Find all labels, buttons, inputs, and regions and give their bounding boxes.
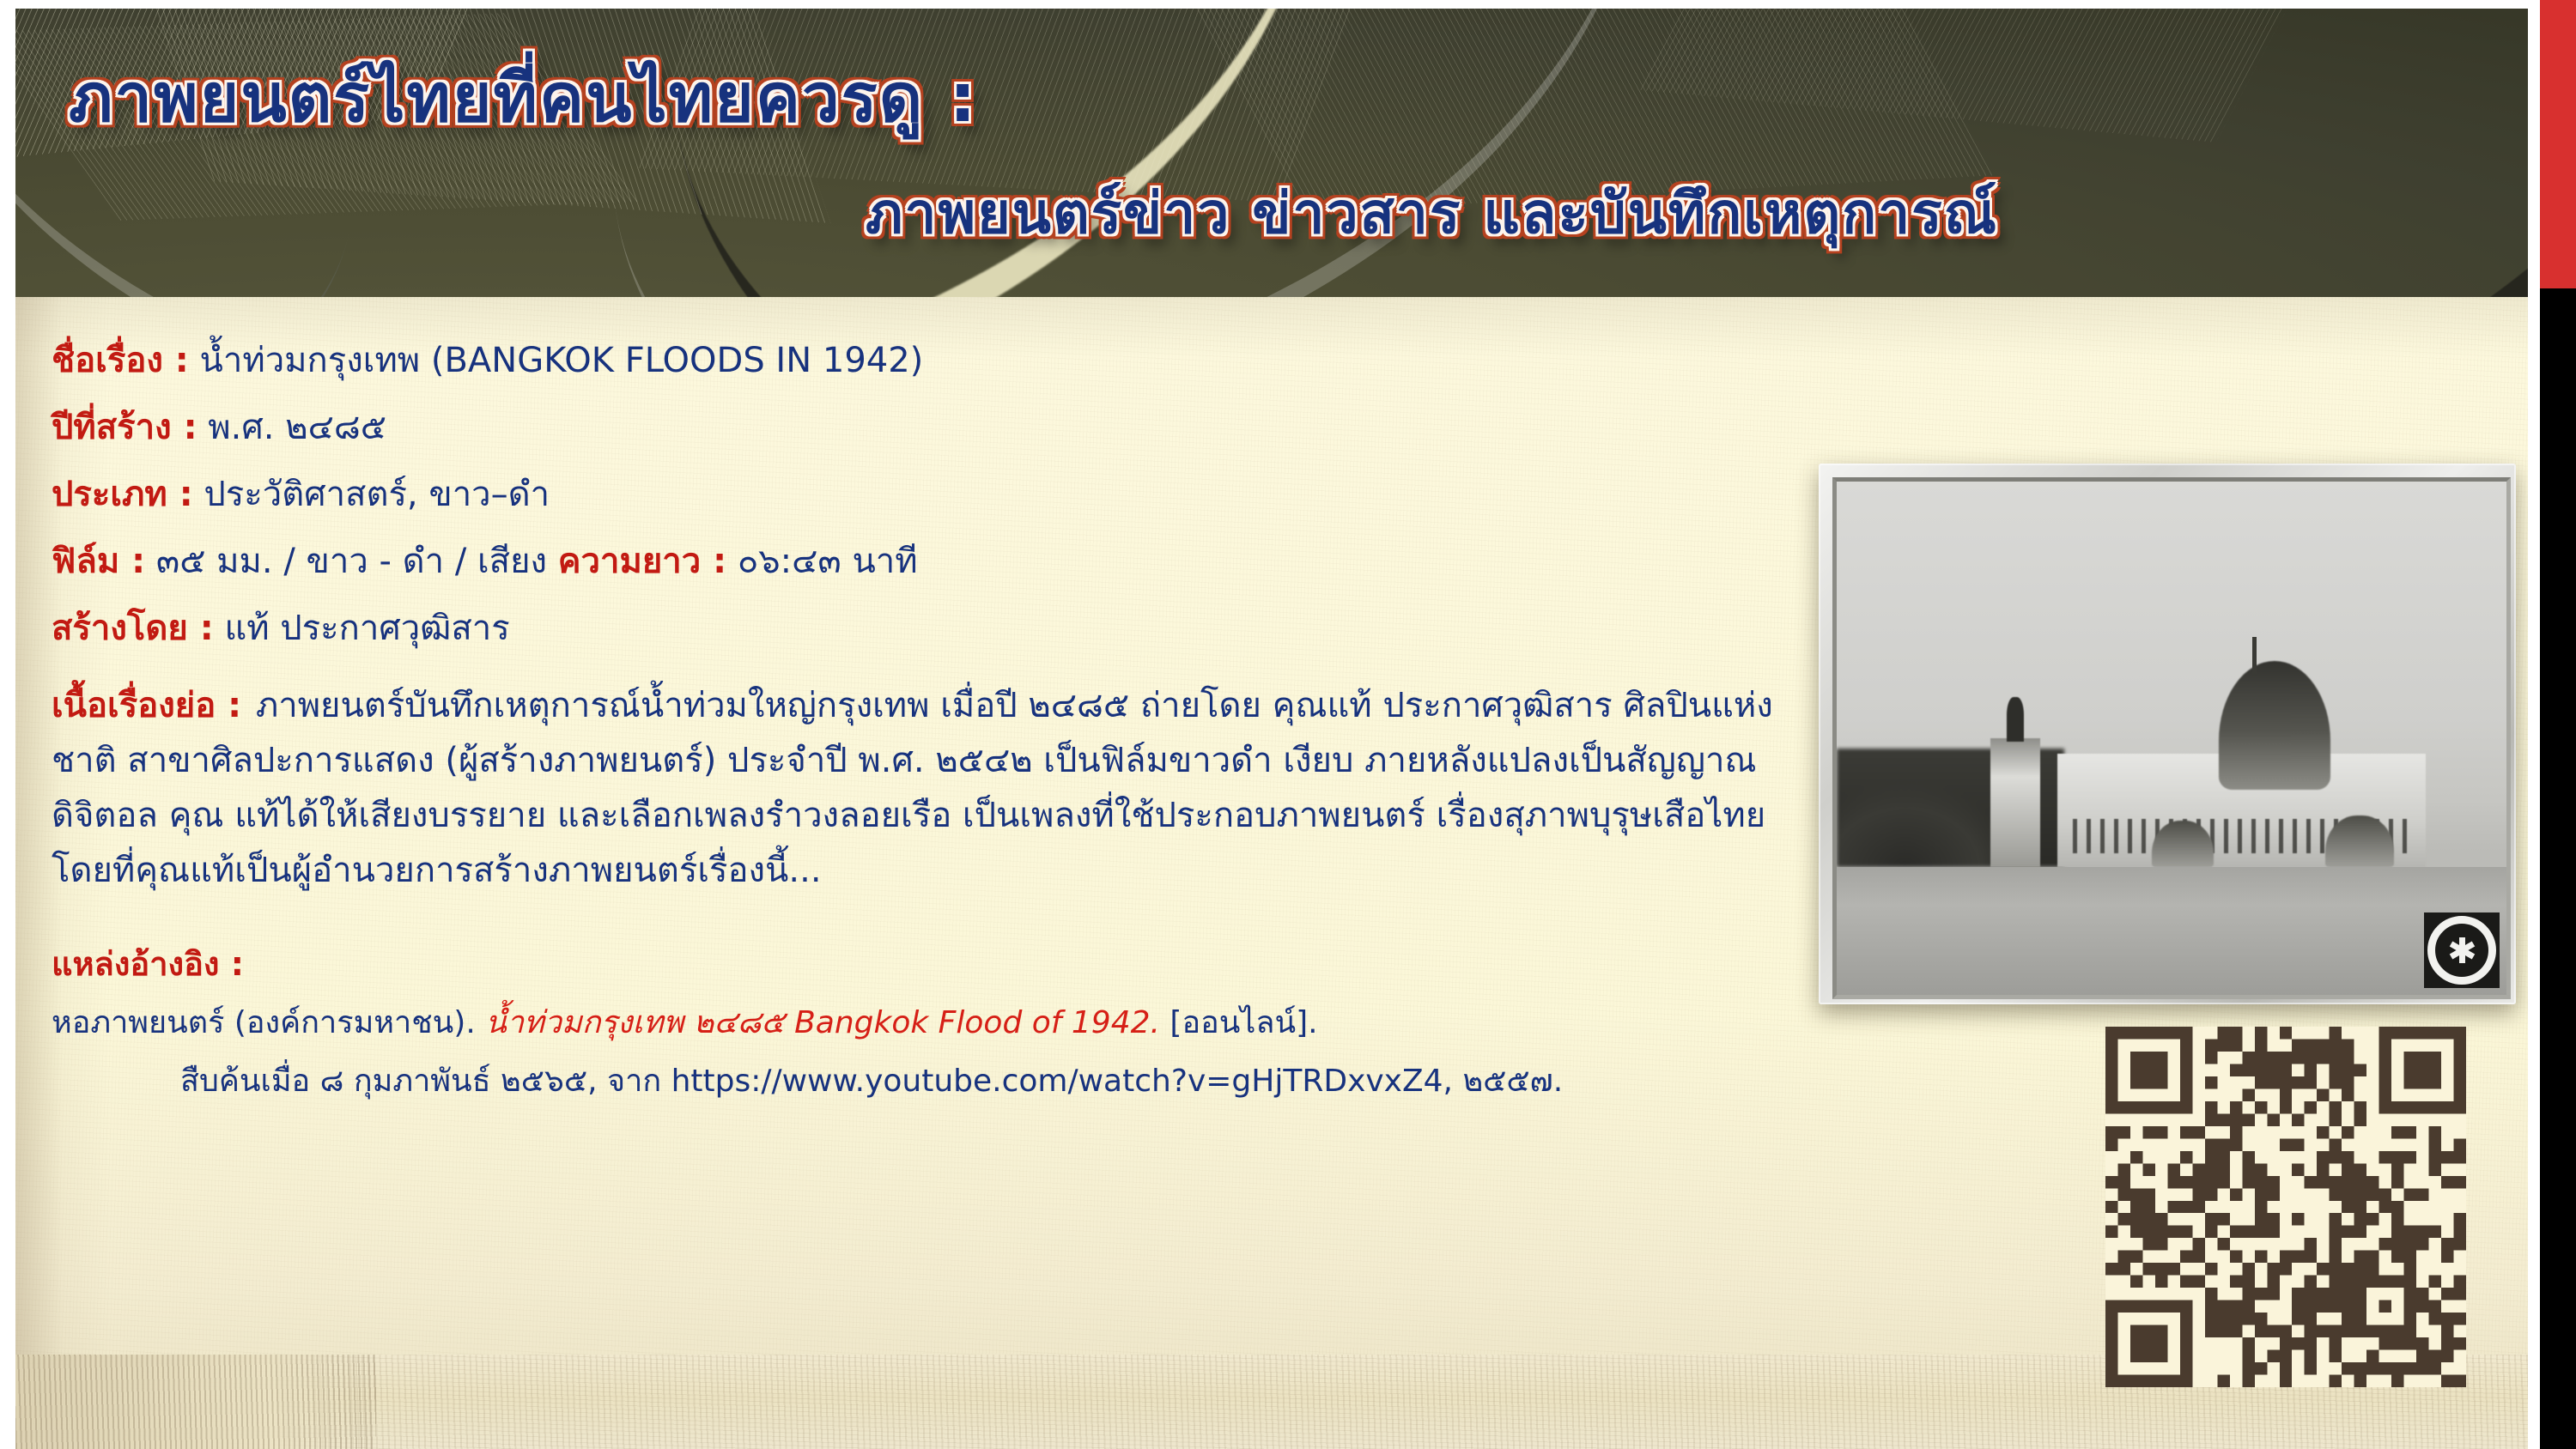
field-genre-value: ประวัติศาสตร์, ขาว–ดำ [204, 475, 550, 514]
field-year-row: ปีที่สร้าง : พ.ศ. ๒๔๘๕ [52, 410, 1795, 445]
field-genre-label: ประเภท : [52, 475, 193, 514]
film-still-frame [1819, 464, 2516, 1004]
synopsis-block: เนื้อเรื่องย่อ : ภาพยนตร์บันทึกเหตุการณ์… [52, 678, 1777, 898]
reference-heading: แหล่งอ้างอิง : [52, 937, 1795, 990]
field-film-label: ฟิล์ม : [52, 542, 145, 581]
synopsis-line-1: ภาพยนตร์บันทึกเหตุการณ์น้ำท่วมใหญ่กรุงเท… [256, 686, 1261, 725]
film-still-image [1832, 477, 2511, 999]
field-creator-value: แท้ ประกาศวุฒิสาร [224, 609, 509, 648]
qr-code[interactable] [2105, 1027, 2466, 1387]
field-duration-label: ความยาว : [558, 542, 726, 581]
right-rail-black [2540, 288, 2576, 1449]
synopsis-label: เนื้อเรื่องย่อ : [52, 686, 241, 725]
right-rail-red [2540, 0, 2576, 288]
header-banner: ภาพยนตร์ไทยที่คนไทยควรดู : ภาพยนตร์ข่าว … [15, 9, 2531, 297]
photo-floodwater [1837, 867, 2506, 996]
banner-title-line1: ภาพยนตร์ไทยที่คนไทยควรดู : [69, 45, 978, 151]
field-title-value: น้ำท่วมกรุงเทพ (BANGKOK FLOODS IN 1942) [200, 341, 924, 380]
field-year-label: ปีที่สร้าง : [52, 408, 197, 447]
banner-title-line2: ภาพยนตร์ข่าว ข่าวสาร และบันทึกเหตุการณ์ [866, 168, 1998, 258]
photo-spire [2252, 637, 2257, 676]
right-white-gap [2528, 0, 2540, 1449]
film-archive-wheel-icon [2424, 912, 2500, 988]
field-year-value: พ.ศ. ๒๔๘๕ [208, 408, 386, 447]
synopsis-line-4: แท้ได้ให้เสียงบรรยาย และเลือกเพลงรำวงลอย… [234, 796, 1425, 835]
field-genre-row: ประเภท : ประวัติศาสตร์, ขาว–ดำ [52, 477, 1795, 512]
reference-line-2: สืบค้นเมื่อ ๘ กุมภาพันธ์ ๒๕๖๕, จาก https… [52, 1057, 1795, 1106]
film-info-block: ชื่อเรื่อง : น้ำท่วมกรุงเทพ (BANGKOK FLO… [52, 343, 1795, 1106]
field-duration-value: ๐๖:๔๓ นาที [738, 542, 918, 581]
field-title-label: ชื่อเรื่อง : [52, 341, 189, 380]
reference-medium: [ออนไลน์]. [1170, 1005, 1317, 1040]
reference-work-title: น้ำท่วมกรุงเทพ ๒๔๘๕ Bangkok Flood of 194… [485, 1005, 1160, 1040]
reference-publisher: หอภาพยนตร์ (องค์การมหาชน). [52, 1005, 476, 1040]
field-creator-label: สร้างโดย : [52, 609, 214, 648]
photo-equestrian-monument [1990, 738, 2040, 867]
poster-page: ภาพยนตร์ไทยที่คนไทยควรดู : ภาพยนตร์ข่าว … [0, 0, 2576, 1449]
parchment-bottom-left-texture [15, 1355, 376, 1449]
field-creator-row: สร้างโดย : แท้ ประกาศวุฒิสาร [52, 611, 1795, 646]
field-film-row: ฟิล์ม : ๓๕ มม. / ขาว - ดำ / เสียง ความยา… [52, 544, 1795, 579]
reference-line-1: หอภาพยนตร์ (องค์การมหาชน). น้ำท่วมกรุงเท… [52, 998, 1795, 1048]
field-title-row: ชื่อเรื่อง : น้ำท่วมกรุงเทพ (BANGKOK FLO… [52, 343, 1795, 378]
field-film-value: ๓๕ มม. / ขาว - ดำ / เสียง [156, 542, 547, 581]
